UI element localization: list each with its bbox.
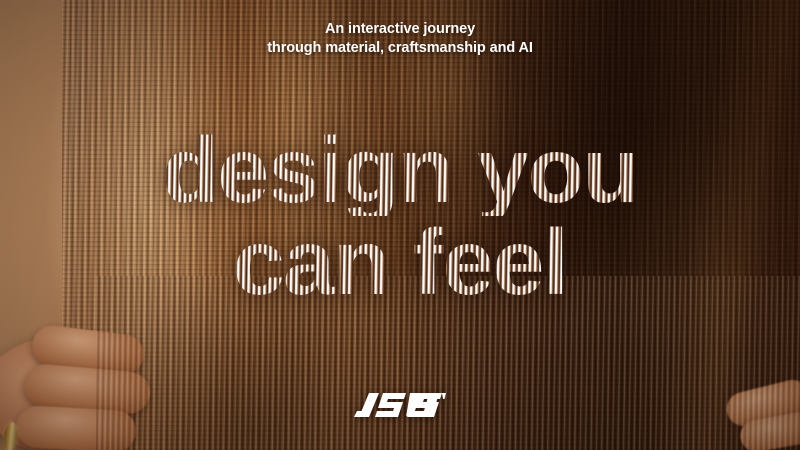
campaign-subtitle: An interactive journey through material,… [0, 20, 800, 58]
subtitle-line-1: An interactive journey [0, 20, 800, 39]
headline-line-1: design you [0, 124, 800, 216]
headline-line-2: can feel [0, 216, 800, 308]
campaign-headline: design you can feel [0, 124, 800, 308]
asus-logo [354, 392, 446, 418]
brand-logo [0, 392, 800, 423]
hero-banner: An interactive journey through material,… [0, 0, 800, 450]
subtitle-line-2: through material, craftsmanship and AI [0, 39, 800, 58]
